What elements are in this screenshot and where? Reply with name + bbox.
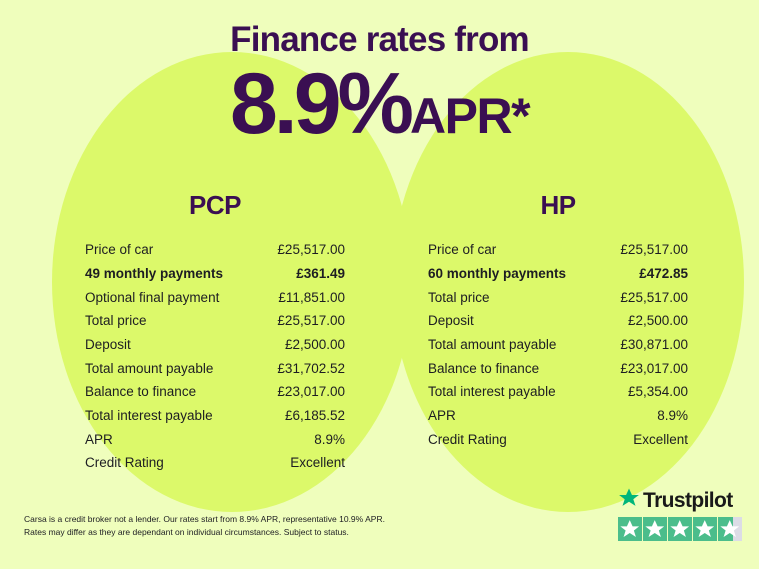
table-row: APR8.9%: [85, 428, 345, 452]
row-label: Optional final payment: [85, 290, 219, 307]
table-row: 60 monthly payments£472.85: [428, 263, 688, 287]
table-row: Deposit£2,500.00: [428, 310, 688, 334]
row-value: £2,500.00: [285, 337, 345, 354]
row-value: £5,354.00: [628, 384, 688, 401]
row-label: Deposit: [85, 337, 131, 354]
row-label: Price of car: [428, 242, 496, 259]
disclaimer-text: Carsa is a credit broker not a lender. O…: [24, 513, 444, 539]
table-row: 49 monthly payments£361.49: [85, 263, 345, 287]
apr-rate-suffix: APR*: [410, 88, 529, 144]
trustpilot-star-box: [693, 517, 717, 541]
table-row: Balance to finance£23,017.00: [85, 381, 345, 405]
table-row: Total price£25,517.00: [85, 310, 345, 334]
row-label: Total interest payable: [428, 384, 556, 401]
star-icon: [618, 517, 642, 541]
trustpilot-star-box: [668, 517, 692, 541]
row-label: Total price: [85, 313, 147, 330]
row-value: £11,851.00: [278, 290, 345, 307]
row-label: Credit Rating: [85, 455, 164, 472]
star-icon: [693, 517, 717, 541]
table-row: Price of car£25,517.00: [85, 239, 345, 263]
finance-rates-poster: Finance rates from 8.9%APR* PCP Price of…: [0, 0, 759, 569]
row-label: Balance to finance: [428, 361, 539, 378]
row-value: £2,500.00: [628, 313, 688, 330]
star-icon: [718, 517, 742, 541]
row-label: Price of car: [85, 242, 153, 259]
trustpilot-star-box: [643, 517, 667, 541]
disclaimer-line-2: Rates may differ as they are dependant o…: [24, 526, 444, 539]
row-value: £6,185.52: [285, 408, 345, 425]
table-row: Total interest payable£5,354.00: [428, 381, 688, 405]
rate-line: 8.9%APR*: [0, 61, 759, 147]
row-value: £31,702.52: [277, 361, 345, 378]
trustpilot-star-box: [618, 517, 642, 541]
table-row: Credit RatingExcellent: [85, 452, 345, 476]
row-label: Total amount payable: [85, 361, 213, 378]
row-label: 60 monthly payments: [428, 266, 566, 283]
disclaimer-line-1: Carsa is a credit broker not a lender. O…: [24, 513, 444, 526]
row-label: APR: [85, 432, 113, 449]
row-value: £25,517.00: [277, 313, 345, 330]
table-row: Total price£25,517.00: [428, 286, 688, 310]
row-label: Credit Rating: [428, 432, 507, 449]
trustpilot-wordmark: Trustpilot: [643, 490, 733, 511]
trustpilot-star-box: [718, 517, 742, 541]
star-icon: [668, 517, 692, 541]
table-row: Total amount payable£30,871.00: [428, 334, 688, 358]
plan-card-hp: HP Price of car£25,517.0060 monthly paym…: [428, 190, 688, 452]
row-value: £472.85: [639, 266, 688, 283]
trustpilot-star-icon: [618, 487, 640, 514]
row-label: APR: [428, 408, 456, 425]
plan-title-pcp: PCP: [85, 190, 345, 221]
row-value: £25,517.00: [277, 242, 345, 259]
row-value: £30,871.00: [620, 337, 688, 354]
plan-rows-hp: Price of car£25,517.0060 monthly payment…: [428, 239, 688, 452]
page-title: Finance rates from: [0, 22, 759, 59]
row-value: 8.9%: [657, 408, 688, 425]
table-row: Price of car£25,517.00: [428, 239, 688, 263]
row-label: Balance to finance: [85, 384, 196, 401]
row-value: 8.9%: [314, 432, 345, 449]
row-label: Total price: [428, 290, 490, 307]
table-row: Total interest payable£6,185.52: [85, 405, 345, 429]
star-icon: [643, 517, 667, 541]
header: Finance rates from 8.9%APR*: [0, 0, 759, 147]
plan-rows-pcp: Price of car£25,517.0049 monthly payment…: [85, 239, 345, 476]
plan-card-pcp: PCP Price of car£25,517.0049 monthly pay…: [85, 190, 345, 476]
apr-rate-value: 8.9%: [230, 56, 410, 152]
row-value: £23,017.00: [620, 361, 688, 378]
table-row: APR8.9%: [428, 405, 688, 429]
plan-title-hp: HP: [428, 190, 688, 221]
trustpilot-stars: [618, 517, 744, 541]
row-label: Total amount payable: [428, 337, 556, 354]
row-label: Deposit: [428, 313, 474, 330]
row-value: Excellent: [290, 455, 345, 472]
table-row: Balance to finance£23,017.00: [428, 357, 688, 381]
trustpilot-rating[interactable]: Trustpilot: [618, 488, 744, 541]
row-label: 49 monthly payments: [85, 266, 223, 283]
row-value: £25,517.00: [620, 242, 688, 259]
trustpilot-brand: Trustpilot: [618, 488, 744, 512]
table-row: Optional final payment£11,851.00: [85, 286, 345, 310]
row-value: £361.49: [296, 266, 345, 283]
row-value: £23,017.00: [277, 384, 345, 401]
row-value: £25,517.00: [620, 290, 688, 307]
table-row: Deposit£2,500.00: [85, 334, 345, 358]
table-row: Credit RatingExcellent: [428, 428, 688, 452]
row-label: Total interest payable: [85, 408, 213, 425]
row-value: Excellent: [633, 432, 688, 449]
table-row: Total amount payable£31,702.52: [85, 357, 345, 381]
